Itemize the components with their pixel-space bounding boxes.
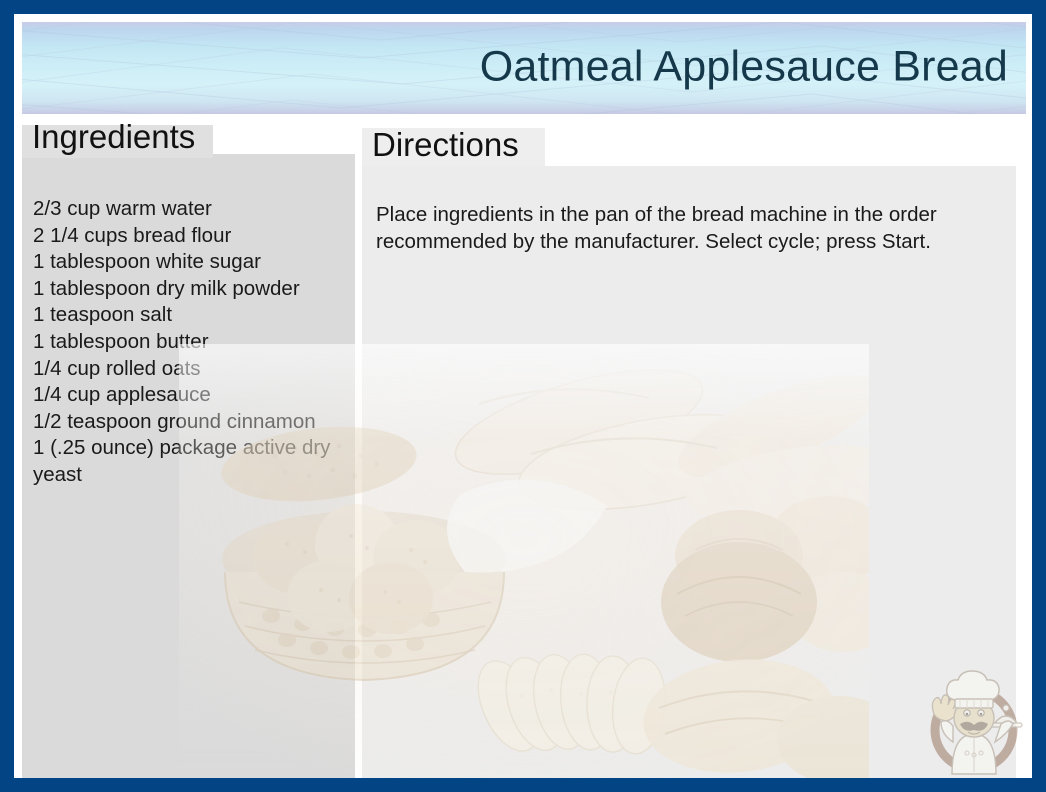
ingredient-item: 1 (.25 ounce) package active dry yeast [33,435,351,488]
tab-ingredients[interactable]: Ingredients [22,125,213,158]
ingredient-item: 1 tablespoon butter [33,329,351,356]
tab-ingredients-label: Ingredients [32,118,195,156]
directions-panel: Place ingredients in the pan of the brea… [362,166,1016,778]
directions-body-text: Place ingredients in the pan of the brea… [376,202,990,255]
slide-canvas: Oatmeal Applesauce Bread Ingredients Dir… [14,14,1032,778]
ingredient-item: 1/4 cup rolled oats [33,356,351,383]
ingredients-panel: 2/3 cup warm water2 1/4 cups bread flour… [22,154,355,778]
ingredient-item: 1 tablespoon white sugar [33,249,351,276]
ingredient-item: 1/2 teaspoon ground cinnamon [33,409,351,436]
tab-directions[interactable]: Directions [362,128,545,166]
ingredients-list-items: 2/3 cup warm water2 1/4 cups bread flour… [33,196,351,489]
ingredient-item: 1 tablespoon dry milk powder [33,276,351,303]
ingredients-list: 2/3 cup warm water2 1/4 cups bread flour… [33,196,351,489]
page-title: Oatmeal Applesauce Bread [480,43,1008,92]
ingredient-item: 1 teaspoon salt [33,302,351,329]
ingredient-item: 2 1/4 cups bread flour [33,223,351,250]
header-banner: Oatmeal Applesauce Bread [22,22,1026,114]
ingredient-item: 1/4 cup applesauce [33,382,351,409]
slide-frame: Oatmeal Applesauce Bread Ingredients Dir… [0,0,1046,792]
ingredient-item: 2/3 cup warm water [33,196,351,223]
tab-directions-label: Directions [372,126,519,164]
